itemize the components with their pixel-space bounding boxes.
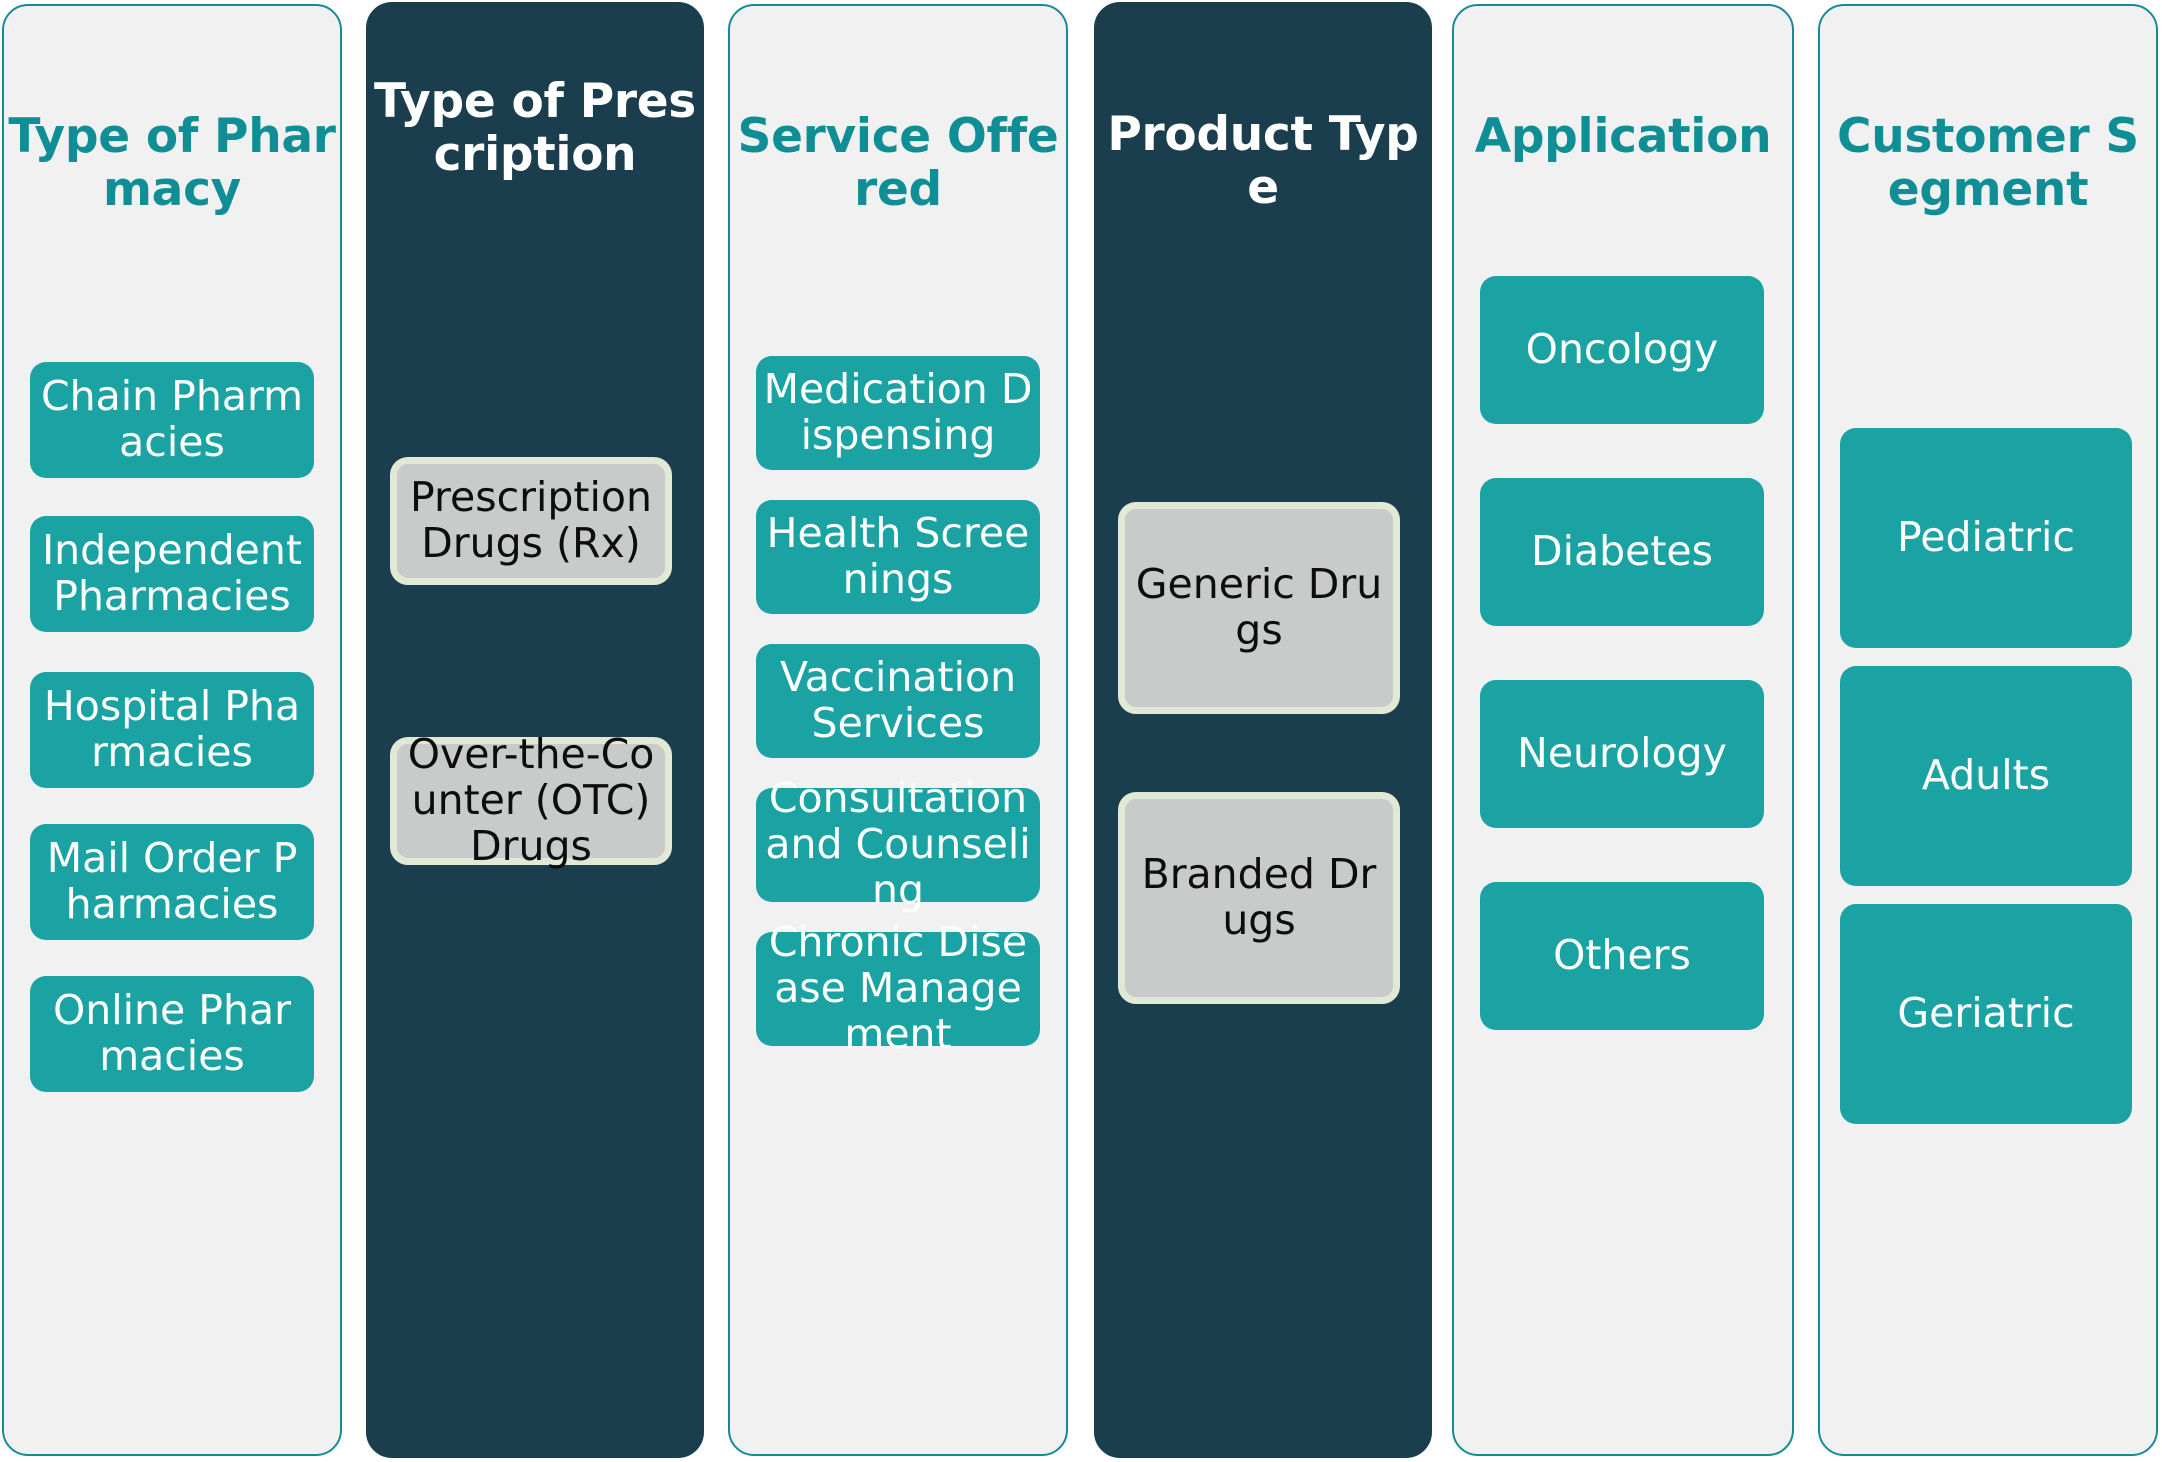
column-title-service-offered: Service Offered <box>730 111 1066 216</box>
column-items-customer-segment: Pediatric Adults Geriatric <box>1820 216 2156 1454</box>
column-type-of-pharmacy: Type of Pharmacy Chain Pharmacies Indepe… <box>2 4 342 1456</box>
chip-medication-dispensing[interactable]: Medication Dispensing <box>756 356 1040 470</box>
chip-chronic-disease-management[interactable]: Chronic Disease Management <box>756 932 1040 1046</box>
column-title-type-of-prescription: Type of Prescription <box>368 76 702 181</box>
chip-branded-drugs[interactable]: Branded Drugs <box>1118 792 1400 1004</box>
chip-generic-drugs[interactable]: Generic Drugs <box>1118 502 1400 714</box>
column-title-application: Application <box>1454 111 1792 164</box>
column-product-type: Product Type Generic Drugs Branded Drugs <box>1094 2 1432 1458</box>
chip-mail-order-pharmacies[interactable]: Mail Order Pharmacies <box>30 824 314 940</box>
chip-others[interactable]: Others <box>1480 882 1764 1030</box>
column-customer-segment: Customer Segment Pediatric Adults Geriat… <box>1818 4 2158 1456</box>
column-items-product-type: Generic Drugs Branded Drugs <box>1096 214 1430 1456</box>
chip-diabetes[interactable]: Diabetes <box>1480 478 1764 626</box>
column-type-of-prescription: Type of Prescription Prescription Drugs … <box>366 2 704 1458</box>
chip-hospital-pharmacies[interactable]: Hospital Pharmacies <box>30 672 314 788</box>
column-items-application: Oncology Diabetes Neurology Others <box>1454 164 1792 1454</box>
chip-consultation-and-counseling[interactable]: Consultation and Counseling <box>756 788 1040 902</box>
chip-online-pharmacies[interactable]: Online Pharmacies <box>30 976 314 1092</box>
column-title-type-of-pharmacy: Type of Pharmacy <box>4 111 340 216</box>
chip-chain-pharmacies[interactable]: Chain Pharmacies <box>30 362 314 478</box>
column-items-service-offered: Medication Dispensing Health Screenings … <box>730 216 1066 1454</box>
chip-vaccination-services[interactable]: Vaccination Services <box>756 644 1040 758</box>
segmentation-diagram: Type of Pharmacy Chain Pharmacies Indepe… <box>0 0 2162 1462</box>
chip-over-the-counter-otc-drugs[interactable]: Over-the-Counter (OTC) Drugs <box>390 737 672 865</box>
chip-geriatric[interactable]: Geriatric <box>1840 904 2132 1124</box>
chip-prescription-drugs-rx[interactable]: Prescription Drugs (Rx) <box>390 457 672 585</box>
column-items-type-of-prescription: Prescription Drugs (Rx) Over-the-Counter… <box>368 181 702 1456</box>
chip-independent-pharmacies[interactable]: Independent Pharmacies <box>30 516 314 632</box>
column-application: Application Oncology Diabetes Neurology … <box>1452 4 1794 1456</box>
column-items-type-of-pharmacy: Chain Pharmacies Independent Pharmacies … <box>4 216 340 1454</box>
column-title-product-type: Product Type <box>1096 109 1430 214</box>
column-title-customer-segment: Customer Segment <box>1820 111 2156 216</box>
chip-health-screenings[interactable]: Health Screenings <box>756 500 1040 614</box>
chip-oncology[interactable]: Oncology <box>1480 276 1764 424</box>
chip-neurology[interactable]: Neurology <box>1480 680 1764 828</box>
column-service-offered: Service Offered Medication Dispensing He… <box>728 4 1068 1456</box>
chip-adults[interactable]: Adults <box>1840 666 2132 886</box>
chip-pediatric[interactable]: Pediatric <box>1840 428 2132 648</box>
